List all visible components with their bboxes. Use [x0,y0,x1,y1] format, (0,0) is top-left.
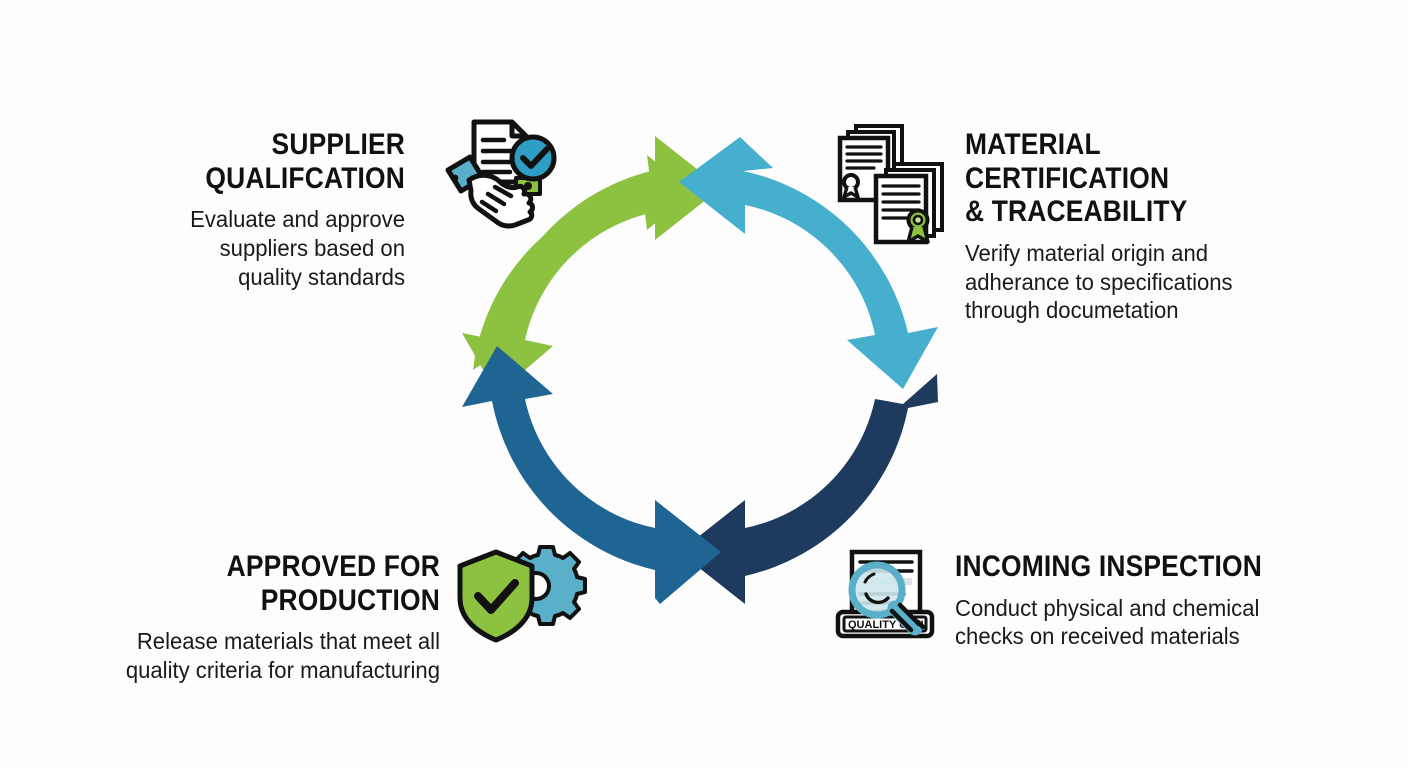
material-certification-description: Verify material origin and adherance to … [965,239,1339,325]
material-certification-heading: MATERIAL CERTIFICATION & TRACEABILITY [965,128,1308,229]
approved-for-production-description: Release materials that meet all quality … [56,627,440,685]
incoming-inspection-heading: INCOMING INSPECTION [955,550,1307,584]
infographic-canvas: QUALITY CON [0,0,1408,768]
handshake-document-check-icon [438,108,560,230]
supplier-qualification-heading: SUPPLIER QUALIFCATION [101,128,405,195]
shield-check-gear-icon [456,546,576,646]
step-approved-for-production-text: APPROVED FOR PRODUCTION Release material… [40,550,440,685]
magnifier-quality-control-icon: QUALITY CON [832,546,944,642]
certificate-documents-icon [832,116,950,248]
step-material-certification-text: MATERIAL CERTIFICATION & TRACEABILITY Ve… [965,128,1355,325]
supplier-qualification-description: Evaluate and approve suppliers based on … [74,205,405,291]
incoming-inspection-description: Conduct physical and chemical checks on … [955,594,1339,652]
step-supplier-qualification-text: SUPPLIER QUALIFCATION Evaluate and appro… [60,128,405,291]
step-incoming-inspection-text: INCOMING INSPECTION Conduct physical and… [955,550,1355,651]
approved-for-production-heading: APPROVED FOR PRODUCTION [88,550,440,617]
